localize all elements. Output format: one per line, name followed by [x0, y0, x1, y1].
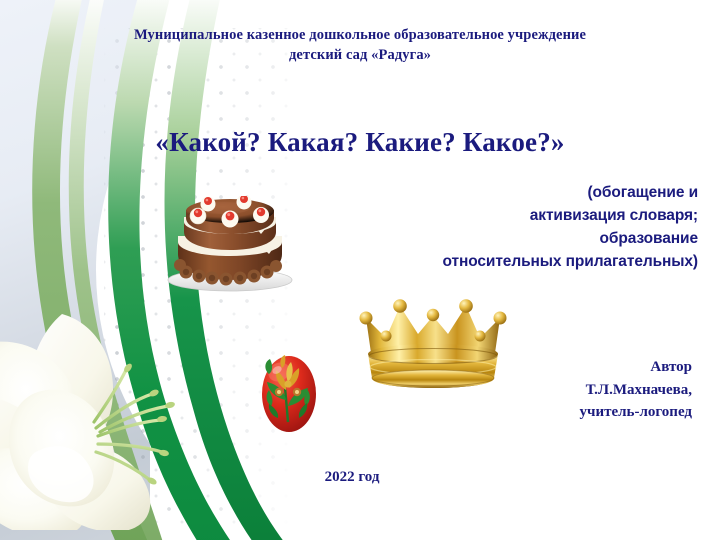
organization-title-line-2: детский сад «Радуга»	[120, 46, 600, 66]
subtitle-line-3: образование	[278, 228, 698, 251]
year-label: 2022 год	[262, 468, 442, 486]
organization-title: Муниципальное казенное дошкольное образо…	[120, 26, 600, 65]
page-title: «Какой? Какая? Какие? Какое?»	[110, 126, 610, 159]
chocolate-layer-cake-icon	[164, 196, 296, 292]
white-lily-flower-icon	[0, 300, 186, 530]
author-label: Автор	[372, 356, 692, 379]
presentation-slide: Муниципальное казенное дошкольное образо…	[0, 0, 720, 540]
subtitle-line-2: активизация словаря;	[278, 205, 698, 228]
subtitle-line-4: относительных прилагательных)	[278, 251, 698, 274]
subtitle-line-1: (обогащение и	[278, 182, 698, 205]
organization-title-line-1: Муниципальное казенное дошкольное образо…	[120, 26, 600, 46]
author-role: учитель-логопед	[372, 401, 692, 424]
painted-khokhloma-egg-icon	[258, 348, 320, 434]
author-block: Автор Т.Л.Махначева, учитель-логопед	[372, 356, 692, 424]
author-name: Т.Л.Махначева,	[372, 379, 692, 402]
subtitle-block: (обогащение и активизация словаря; образ…	[278, 182, 698, 274]
